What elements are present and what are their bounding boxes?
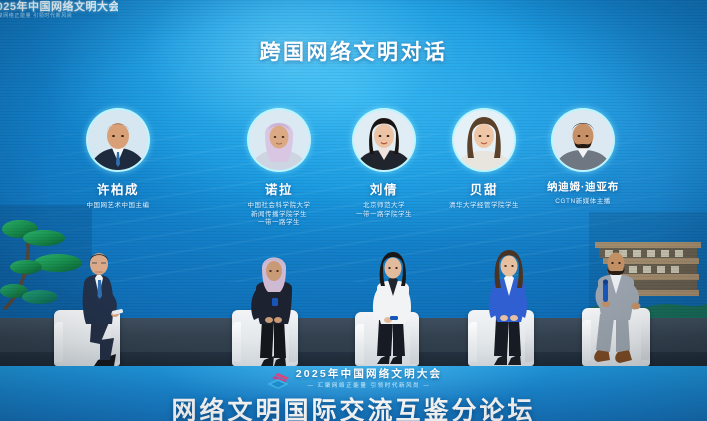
person-figure-2 [244, 250, 306, 366]
bottom-banner: 2025年中国网络文明大会 — 汇聚网络正能量 引领时代新风尚 — 网络文明国际… [0, 366, 707, 421]
panelist-name-2: 诺拉 [223, 179, 335, 198]
panelist-affiliation-4: 清华大学经管学院学生 [428, 202, 540, 211]
person-figure-4 [478, 248, 544, 366]
panelist-card-2: 诺拉 中国社会科学院大学 新闻传播学院学生 一带一路学生 [223, 108, 335, 228]
panelist-card-4: 贝甜 清华大学经管学院学生 [428, 108, 540, 211]
panelist-name-1: 许柏成 [62, 179, 174, 198]
screen-main-title: 跨国网络文明对话 [0, 36, 707, 66]
person-figure-1 [70, 248, 140, 366]
banner-event-name: 2025年中国网络文明大会 [296, 369, 442, 380]
panelist-card-3: 刘倩 北京师范大学 一带一路学院学生 [328, 108, 440, 219]
panelist-portrait-1 [86, 108, 150, 172]
panelist-affiliation-2: 中国社会科学院大学 新闻传播学院学生 一带一路学生 [223, 202, 335, 228]
panelist-affiliation-1: 中国网艺术中国主编 [62, 202, 174, 211]
banner-logo-lockup: 2025年中国网络文明大会 — 汇聚网络正能量 引领时代新风尚 — [0, 369, 707, 391]
panelist-name-5: 纳迪姆·迪亚布 [527, 179, 639, 194]
seated-panelist-3 [355, 246, 445, 366]
corner-logo-event-name: 2025年中国网络文明大会 [0, 2, 118, 13]
panelist-card-1: 许柏成 中国网艺术中国主编 [62, 108, 174, 211]
panelist-name-3: 刘倩 [328, 179, 440, 198]
person-figure-5 [584, 246, 660, 366]
panelist-name-4: 贝甜 [428, 179, 540, 198]
seated-panelist-1 [54, 246, 144, 366]
corner-logo-slogan: 汇聚网络正能量 引领时代新风尚 [0, 13, 118, 20]
panelist-affiliation-5: CGTN新媒体主播 [527, 198, 639, 207]
panelist-affiliation-3: 北京师范大学 一带一路学院学生 [328, 202, 440, 219]
panelist-portrait-5 [551, 108, 615, 172]
seated-panelist-5 [578, 244, 674, 366]
conference-logo-mark-icon [265, 372, 291, 389]
panelist-portrait-3 [352, 108, 416, 172]
person-figure-3 [363, 250, 427, 366]
banner-forum-title: 网络文明国际交流互鉴分论坛 [0, 391, 707, 421]
banner-slogan: — 汇聚网络正能量 引领时代新风尚 — [308, 382, 431, 391]
corner-event-logo: 2025年中国网络文明大会 汇聚网络正能量 引领时代新风尚 [0, 0, 118, 22]
panelist-portrait-4 [452, 108, 516, 172]
panelist-card-row: 许柏成 中国网艺术中国主编 诺拉 中国社会 [0, 108, 707, 216]
panelist-portrait-2 [247, 108, 311, 172]
panelist-card-5: 纳迪姆·迪亚布 CGTN新媒体主播 [527, 108, 639, 207]
conference-stage-screenshot: 2025年中国网络文明大会 汇聚网络正能量 引领时代新风尚 跨国网络文明对话 许… [0, 0, 707, 421]
seated-panelist-2 [232, 246, 322, 366]
handheld-microphone-icon [603, 282, 608, 302]
seated-panelist-4 [468, 246, 560, 366]
